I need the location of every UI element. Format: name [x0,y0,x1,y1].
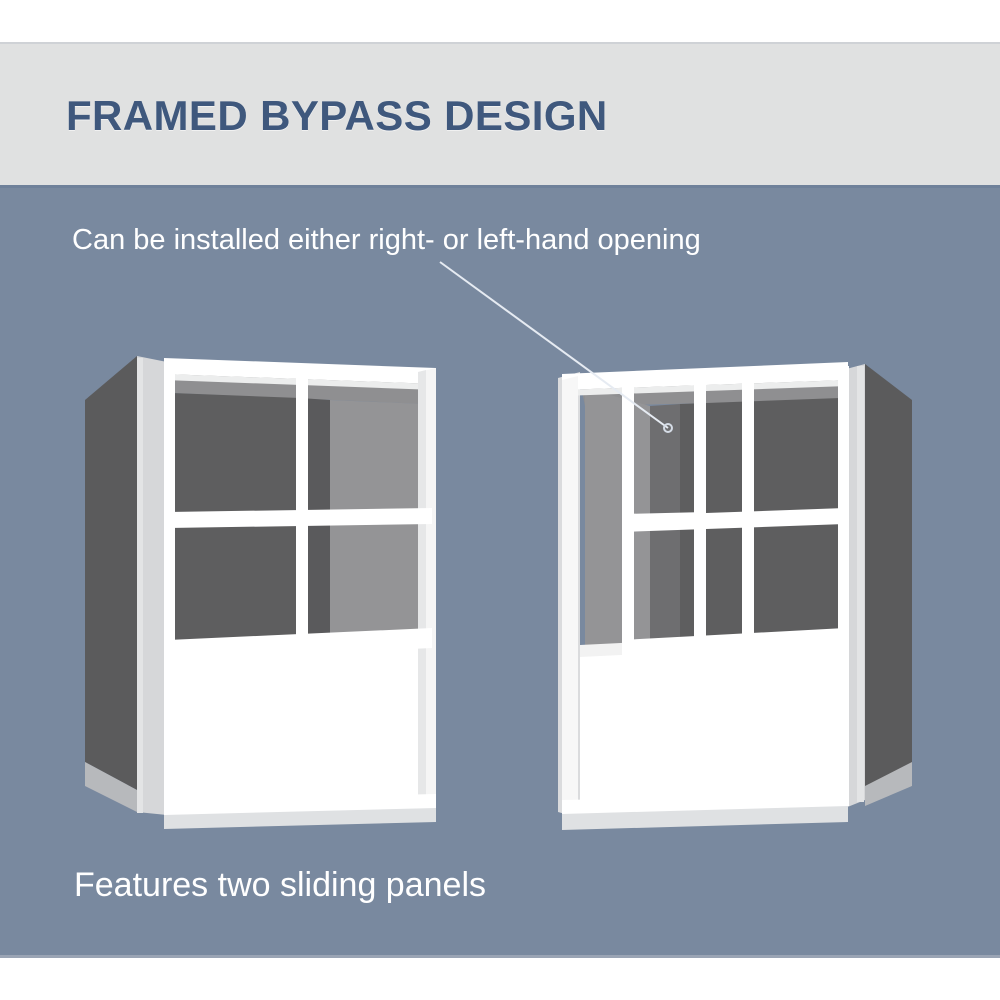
right-unit-right-post-highlight [857,366,864,802]
left-unit-outer-side-wall [85,356,137,790]
right-unit-mullion-1 [622,380,634,812]
left-unit-left-post-highlight [137,358,143,813]
annotation-leader [440,262,672,432]
right-unit-tub-basin [580,636,845,806]
right-unit-mid-rail-left [622,512,706,530]
leader-line [440,262,668,428]
right-unit-outer-side-wall [865,364,912,800]
right-unit-mullion-2 [694,376,706,808]
bottom-white-margin [0,958,1000,1000]
left-enclosure [85,356,436,829]
shower-enclosure-illustration [0,0,1000,1000]
left-unit-tub-basin [167,634,432,806]
left-unit-left-stile [164,366,175,812]
product-feature-graphic: FRAMED BYPASS DESIGN Can be installed ei… [0,0,1000,1000]
left-unit-right-stile-shade [418,370,426,815]
right-enclosure [558,362,912,830]
right-unit-right-stile [838,366,849,806]
right-unit-left-stile [562,376,578,816]
